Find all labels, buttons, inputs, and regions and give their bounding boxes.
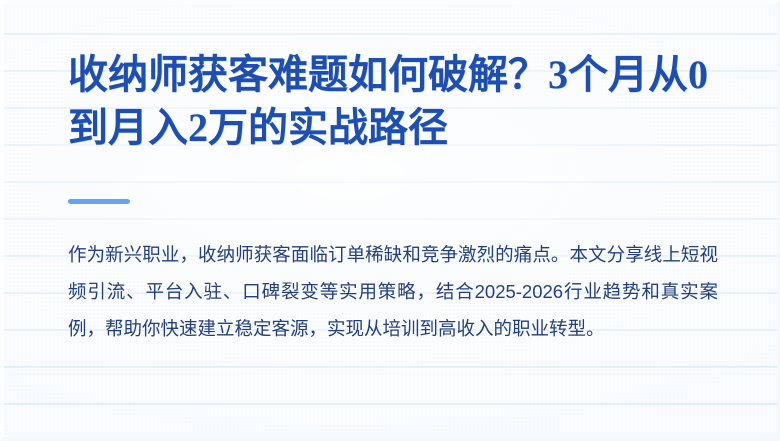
article-summary: 作为新兴职业，收纳师获客面临订单稀缺和竞争激烈的痛点。本文分享线上短视频引流、平… xyxy=(68,236,718,347)
title-divider xyxy=(68,199,130,204)
page-title: 收纳师获客难题如何破解？3个月从0到月入2万的实战路径 xyxy=(68,48,716,154)
article-cover-card: 收纳师获客难题如何破解？3个月从0到月入2万的实战路径 作为新兴职业，收纳师获客… xyxy=(0,0,780,441)
cover-content: 收纳师获客难题如何破解？3个月从0到月入2万的实战路径 作为新兴职业，收纳师获客… xyxy=(68,0,716,441)
